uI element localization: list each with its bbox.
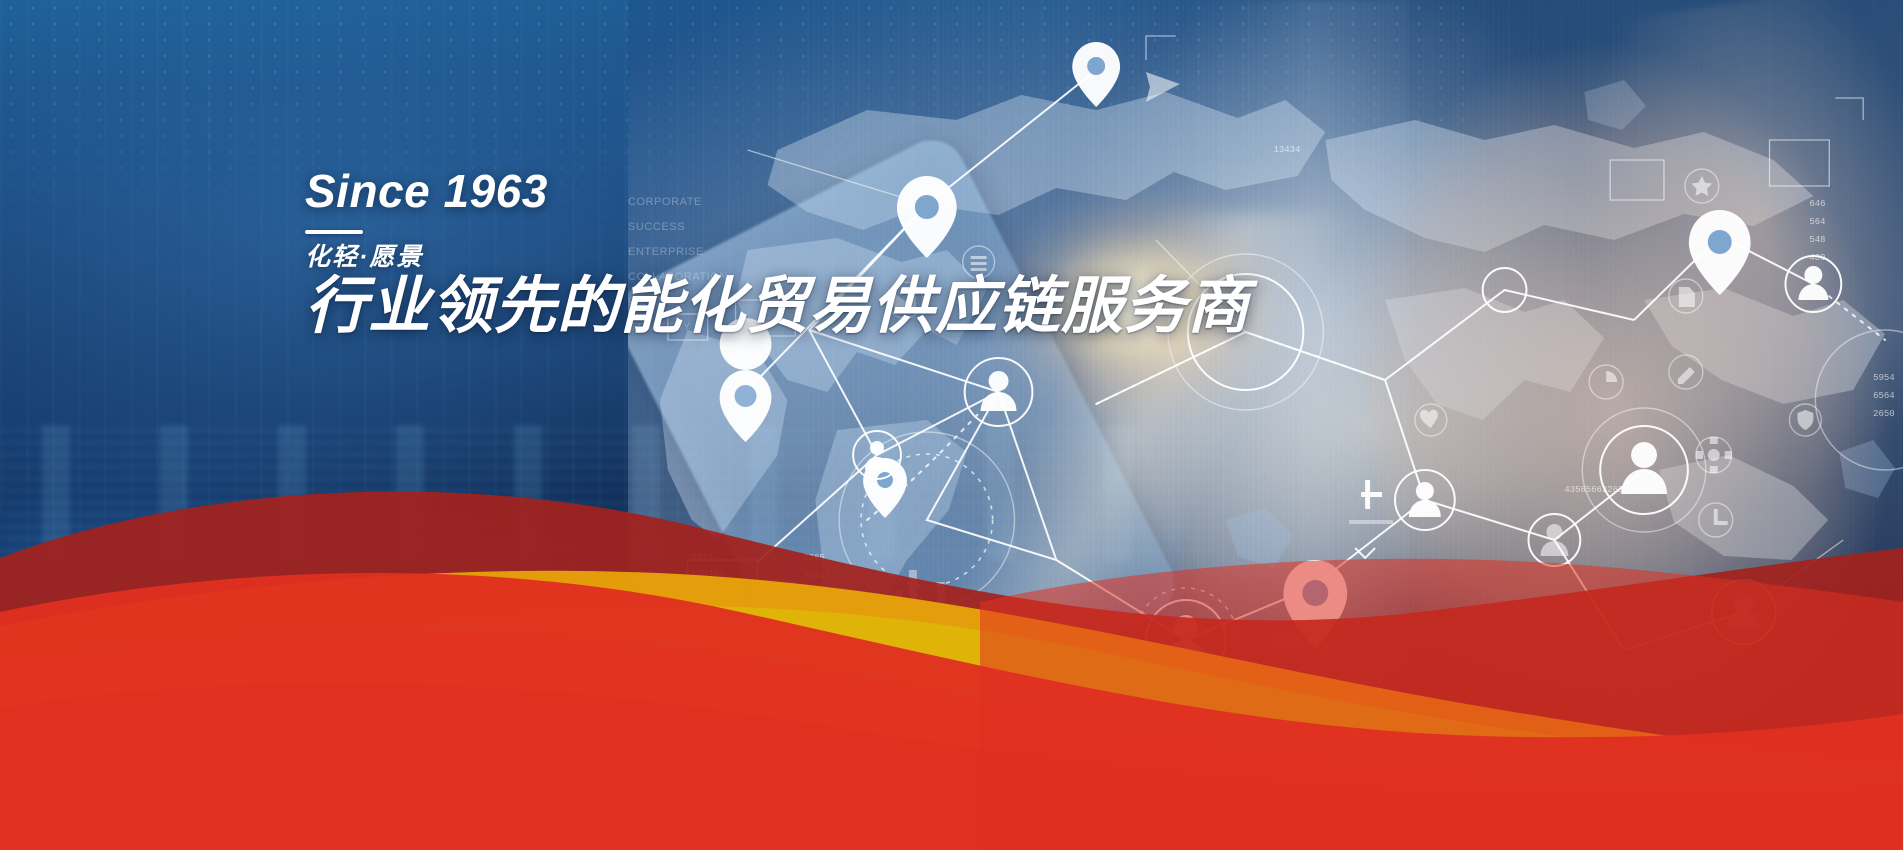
map-pin-icon [1689,210,1751,295]
paper-plane-icon [1146,72,1180,102]
page-title: 行业领先的能化贸易供应链服务商 [305,274,1265,341]
wave-red-overlay [980,559,1903,850]
hero-copy-block: Since 1963 化轻·愿景 行业领先的能化贸易供应链服务商 [305,168,1265,340]
user-avatar-icon [1785,256,1841,312]
svg-text:6564: 6564 [1873,391,1894,401]
svg-text:646: 646 [1809,199,1825,209]
hero-banner: 3315 533454 542342 5355 78653 2424 24343… [0,0,1903,850]
svg-text:489: 489 [1809,253,1825,263]
svg-text:548: 548 [1809,235,1825,245]
svg-text:13434: 13434 [1273,145,1300,155]
bottom-wave-graphic [0,430,1903,850]
user-avatar-icon [965,358,1033,426]
pencil-icon [1669,355,1703,389]
since-label: Since 1963 [305,168,1265,214]
divider-rule [305,230,363,234]
eyebrow-label: 化轻·愿景 [305,244,1265,272]
map-pin-icon [1072,42,1120,107]
svg-text:564: 564 [1809,217,1825,227]
document-icon [1669,279,1703,313]
svg-text:5954: 5954 [1873,373,1894,383]
pie-chart-icon [1589,365,1623,399]
wave-svg [0,430,1903,850]
star-icon [1685,169,1719,203]
svg-text:2650: 2650 [1873,409,1894,419]
